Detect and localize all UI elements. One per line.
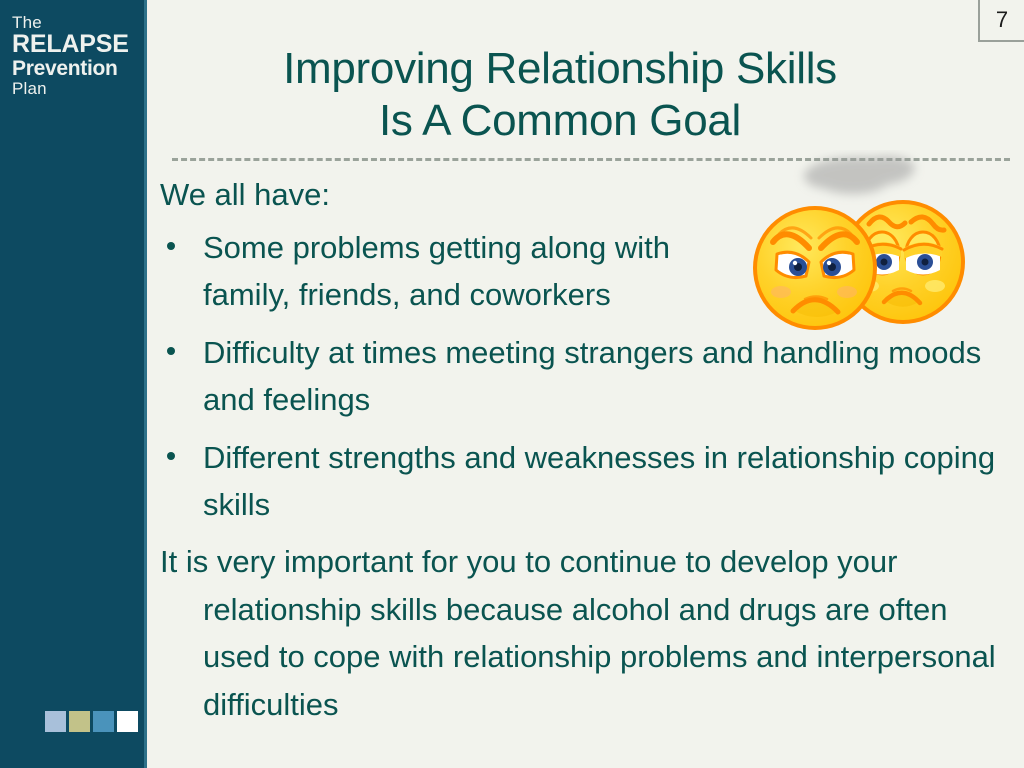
sidebar: The RELAPSE Prevention Plan — [0, 0, 147, 768]
swatch-row — [45, 711, 138, 732]
swatch-white — [117, 711, 138, 732]
logo-line-relapse: RELAPSE — [12, 32, 138, 57]
swatch-khaki — [69, 711, 90, 732]
page-title-line-1: Improving Relationship Skills — [160, 43, 960, 95]
logo-line-plan: Plan — [12, 80, 138, 97]
intro-text: We all have: — [160, 176, 720, 214]
list-item-label: Some problems getting along with family,… — [203, 230, 670, 312]
slide-body: We all have: Some problems getting along… — [160, 176, 1015, 728]
slide: The RELAPSE Prevention Plan 7 Improving … — [0, 0, 1024, 768]
bullet-dot-icon — [167, 242, 175, 250]
list-item: Some problems getting along with family,… — [160, 224, 763, 319]
brand-logo: The RELAPSE Prevention Plan — [12, 14, 138, 97]
page-title-line-2: Is A Common Goal — [160, 95, 960, 147]
logo-line-prevention: Prevention — [12, 58, 138, 79]
page-number-badge: 7 — [978, 0, 1024, 42]
list-item: Difficulty at times meeting strangers an… — [160, 329, 1015, 424]
page-title: Improving Relationship Skills Is A Commo… — [160, 43, 960, 147]
list-item-label: Different strengths and weaknesses in re… — [203, 440, 995, 522]
bullet-dot-icon — [167, 452, 175, 460]
swatch-light-blue — [45, 711, 66, 732]
logo-line-the: The — [12, 14, 138, 31]
swatch-blue — [93, 711, 114, 732]
bullet-list: Some problems getting along with family,… — [160, 224, 1015, 529]
list-item: Different strengths and weaknesses in re… — [160, 434, 1015, 529]
closing-paragraph: It is very important for you to continue… — [160, 538, 1015, 728]
bullet-dot-icon — [167, 347, 175, 355]
list-item-label: Difficulty at times meeting strangers an… — [203, 335, 981, 417]
